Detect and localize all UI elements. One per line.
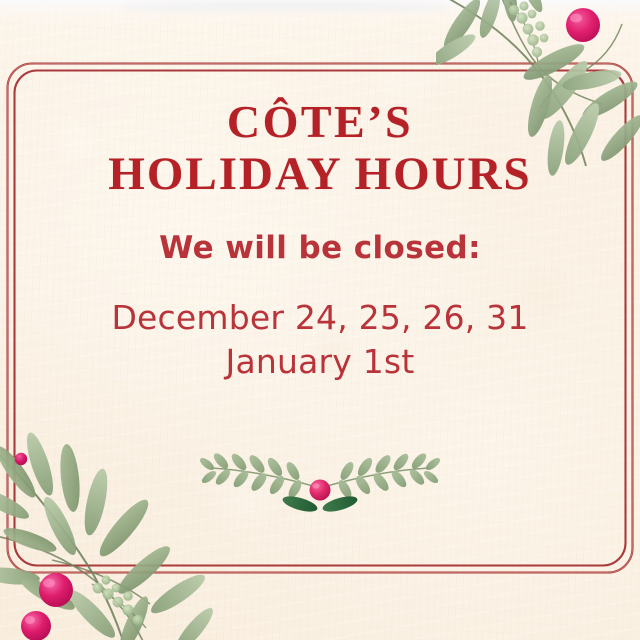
title-line-1: CÔTE’S bbox=[227, 96, 413, 147]
closure-subtitle: We will be closed: bbox=[0, 230, 640, 266]
paper-top-edge-highlight bbox=[0, 0, 640, 26]
closure-date-line-2: January 1st bbox=[0, 340, 640, 384]
title-line-2: HOLIDAY HOURS bbox=[0, 148, 640, 201]
holiday-hours-poster: CÔTE’S HOLIDAY HOURS We will be closed: … bbox=[0, 0, 640, 640]
page-title: CÔTE’S HOLIDAY HOURS bbox=[0, 96, 640, 200]
poster-text-content: CÔTE’S HOLIDAY HOURS We will be closed: … bbox=[0, 96, 640, 383]
closure-date-line-1: December 24, 25, 26, 31 bbox=[0, 296, 640, 340]
closure-dates: December 24, 25, 26, 31 January 1st bbox=[0, 296, 640, 383]
